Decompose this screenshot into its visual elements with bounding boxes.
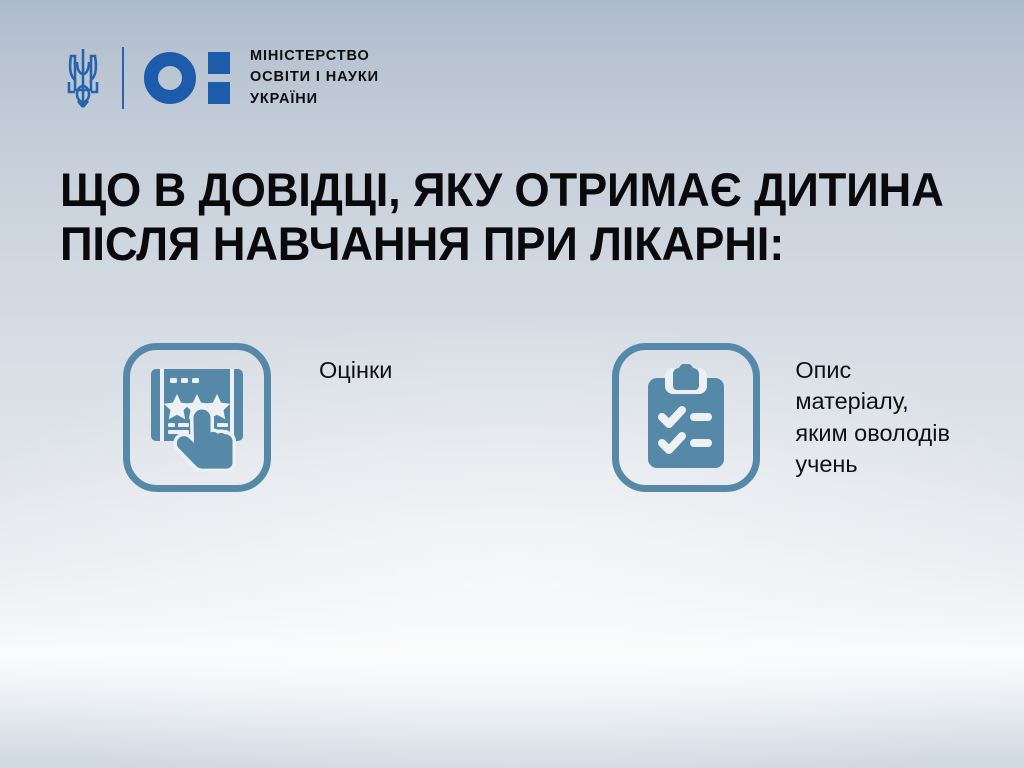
feature-label-grades-line-1: Оцінки: [319, 355, 392, 386]
feature-label-material-line-3: яким оволодів: [795, 418, 950, 449]
ministry-logo: МІНІСТЕРСТВО ОСВІТИ І НАУКИ УКРАЇНИ: [62, 40, 379, 116]
slide-title-line-2: ПІСЛЯ НАВЧАННЯ ПРИ ЛІКАРНІ:: [60, 217, 948, 271]
mon-logo-squares: [208, 52, 230, 104]
feature-item-grades: Оцінки: [123, 343, 392, 492]
feature-list: Оцінки: [123, 343, 950, 492]
clipboard-checklist-icon: [612, 343, 760, 492]
slide-canvas: МІНІСТЕРСТВО ОСВІТИ І НАУКИ УКРАЇНИ ЩО В…: [0, 0, 1024, 768]
mon-logo-square-bottom: [208, 82, 230, 104]
ministry-name: МІНІСТЕРСТВО ОСВІТИ І НАУКИ УКРАЇНИ: [250, 46, 379, 110]
ministry-name-line-3: УКРАЇНИ: [250, 89, 379, 110]
feature-label-material: Опис матеріалу, яким оволодів учень: [795, 343, 950, 480]
feature-label-material-line-2: матеріалу,: [795, 386, 950, 417]
slide-title-line-1: ЩО В ДОВІДЦІ, ЯКУ ОТРИМАЄ ДИТИНА: [60, 163, 948, 217]
slide-title: ЩО В ДОВІДЦІ, ЯКУ ОТРИМАЄ ДИТИНА ПІСЛЯ Н…: [60, 163, 948, 271]
mon-logo-square-top: [208, 52, 230, 74]
feature-label-grades: Оцінки: [319, 343, 392, 386]
feature-item-material: Опис матеріалу, яким оволодів учень: [612, 343, 950, 492]
mon-logo-mark-icon: [144, 49, 230, 107]
ukraine-trident-icon: [62, 45, 104, 111]
mon-logo-ring: [144, 52, 196, 104]
ministry-name-line-1: МІНІСТЕРСТВО: [250, 46, 379, 67]
star-rating-hand-icon: [123, 343, 271, 492]
ministry-name-line-2: ОСВІТИ І НАУКИ: [250, 67, 379, 88]
vertical-divider: [122, 47, 124, 109]
feature-label-material-line-1: Опис: [795, 355, 950, 386]
feature-label-material-line-4: учень: [795, 449, 950, 480]
